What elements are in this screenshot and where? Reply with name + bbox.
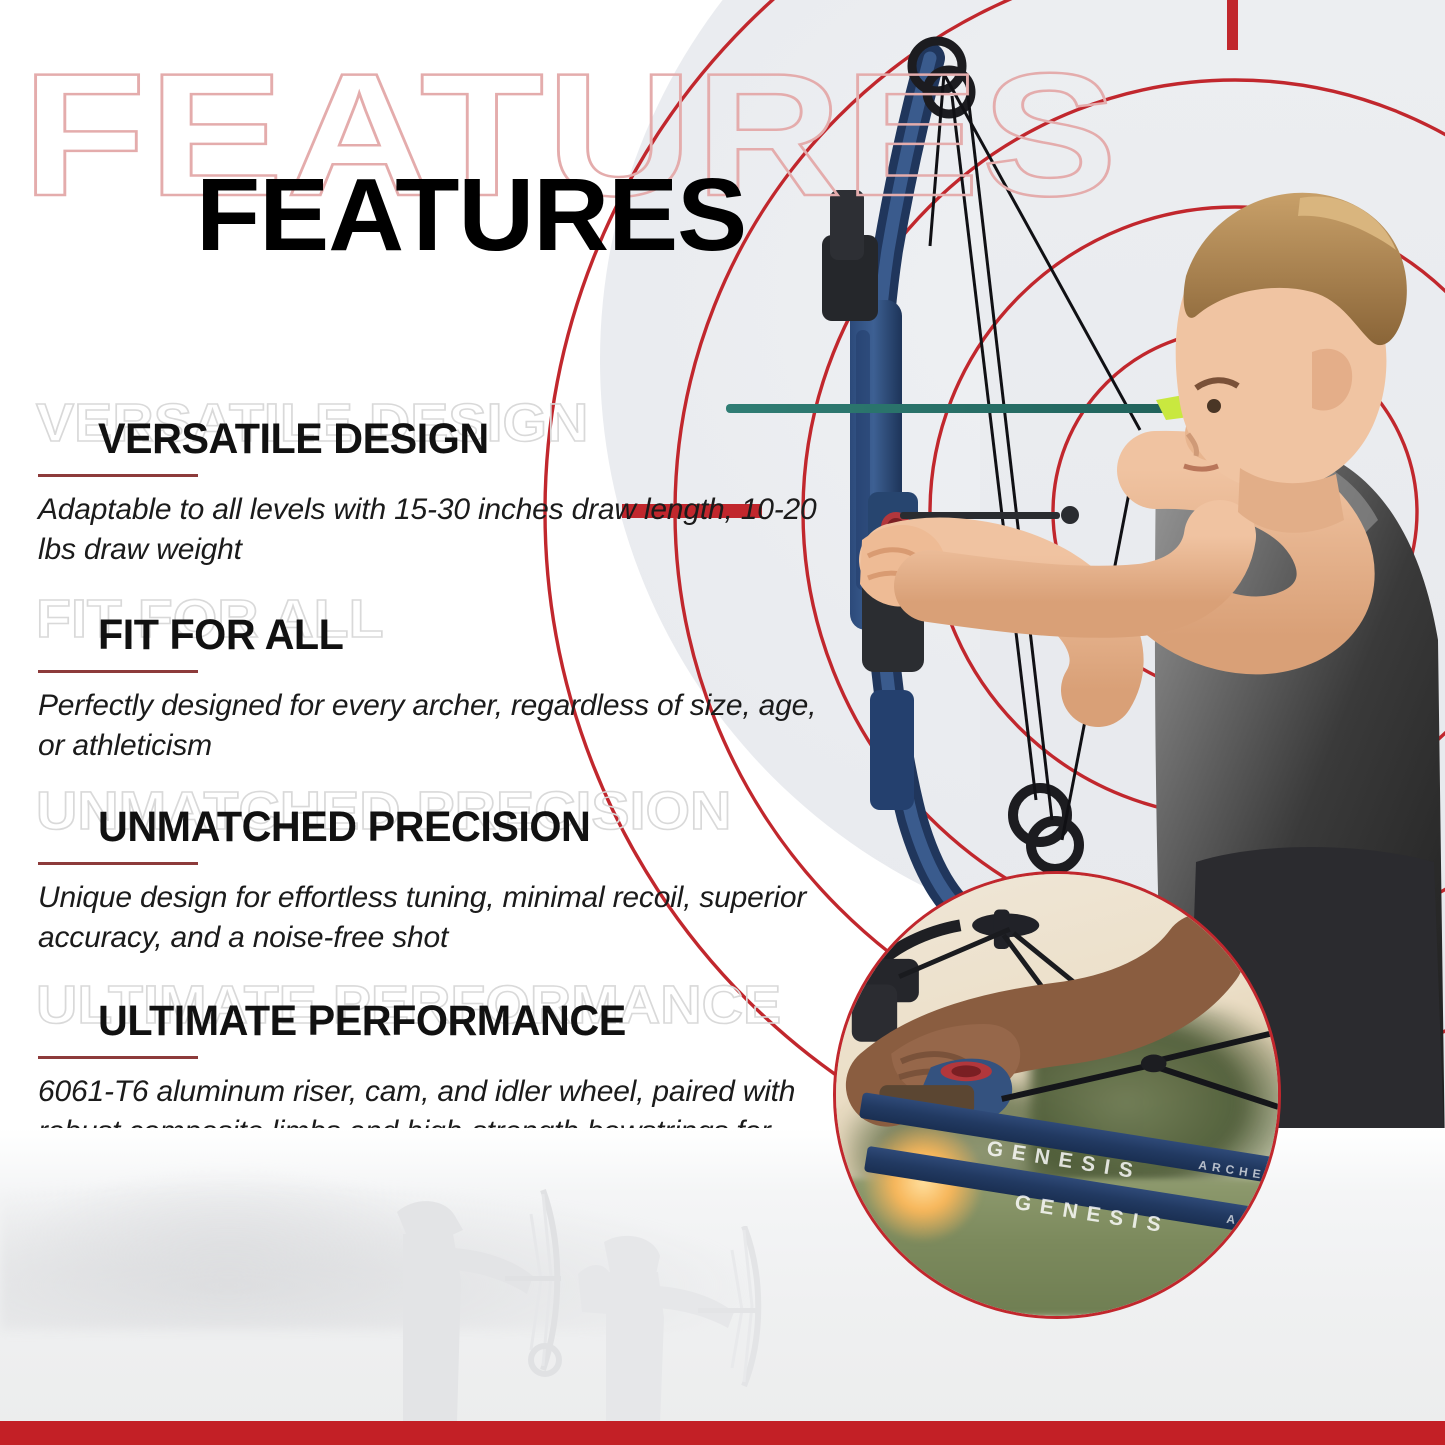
inset-photo-bow-closeup: GENESIS ARCHERY GENESIS ARCHERY — [833, 871, 1281, 1319]
feature-heading: ULTIMATE PERFORMANCE — [98, 1000, 626, 1043]
feature-body: Perfectly designed for every archer, reg… — [38, 686, 828, 766]
infographic-canvas: FEATURES FEATURES VERSATILE DESIGN VERSA… — [0, 0, 1445, 1445]
feature-heading: FIT FOR ALL — [98, 614, 343, 657]
feature-underline — [38, 474, 198, 477]
bottom-accent-bar — [0, 1421, 1445, 1445]
inset-bow-vector — [836, 874, 1278, 1316]
feature-heading: VERSATILE DESIGN — [98, 418, 489, 461]
feature-body: Adaptable to all levels with 15-30 inche… — [38, 490, 828, 570]
feature-body: Unique design for effortless tuning, min… — [38, 878, 828, 958]
feature-underline — [38, 670, 198, 673]
page-title: FEATURES — [196, 163, 746, 266]
feature-heading: UNMATCHED PRECISION — [98, 806, 590, 849]
background-archer-right — [548, 1226, 778, 1426]
feature-underline — [38, 1056, 198, 1059]
feature-underline — [38, 862, 198, 865]
